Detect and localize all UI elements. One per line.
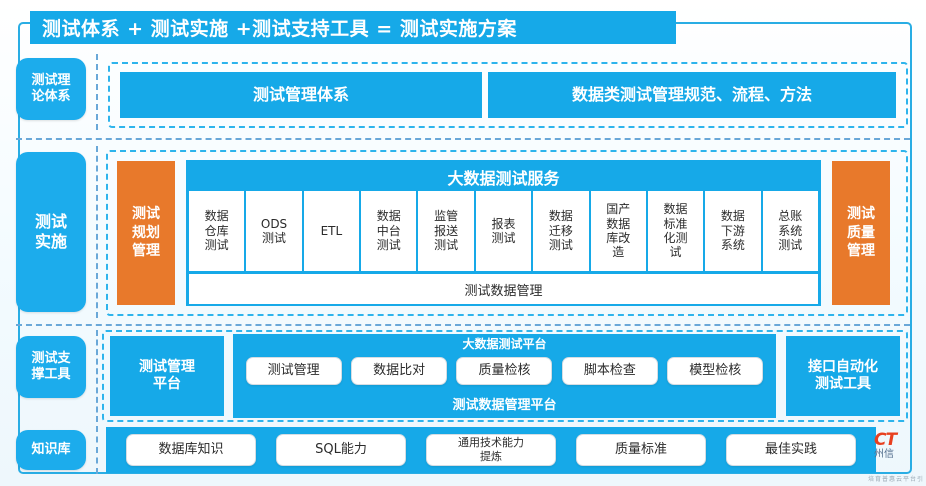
service-cell[interactable]: 数据 迁移 测试 [533,191,588,271]
sidebar-item-theory-label: 测试理 论体系 [31,73,70,106]
platform-tool[interactable]: 测试管理 [246,357,342,385]
service-cell[interactable]: 数据 标准 化测 试 [648,191,703,271]
test-planning-management-block[interactable]: 测试 规划 管理 [117,161,175,305]
theory-box-2[interactable]: 数据类测试管理规范、流程、方法 [488,72,896,118]
service-cell-label: 数据 标准 化测 试 [664,202,688,260]
sidebar-item-support-tools[interactable]: 测试支 撑工具 [16,336,86,398]
big-data-test-service-title-text: 大数据测试服务 [447,165,559,189]
platform-tool[interactable]: 数据比对 [351,357,447,385]
platform-tool[interactable]: 脚本检查 [562,357,658,385]
theory-box-1-label: 测试管理体系 [253,85,349,105]
sidebar-item-theory[interactable]: 测试理 论体系 [16,58,86,120]
service-cell[interactable]: 数据 中台 测试 [361,191,416,271]
section-divider-1 [16,138,910,140]
knowledge-item[interactable]: 质量标准 [576,434,706,466]
watermark-company-text: 州信 [874,449,926,460]
knowledge-item-label: SQL能力 [315,442,367,458]
knowledge-item[interactable]: 最佳实践 [726,434,856,466]
service-grid: 数据 仓库 测试 ODS 测试 ETL 数据 中台 测试 监管 报送 测试 报表… [189,191,818,271]
knowledge-item[interactable]: 通用技术能力 提炼 [426,434,556,466]
knowledge-base-panel: 数据库知识 SQL能力 通用技术能力 提炼 质量标准 最佳实践 [106,427,876,473]
knowledge-item-label: 最佳实践 [765,442,817,458]
interface-automation-tool-label: 接口自动化 测试工具 [808,359,878,394]
sidebar-item-knowledge-base[interactable]: 知识库 [16,430,86,470]
service-cell-label: 数据 仓库 测试 [205,209,229,252]
sidebar-divider-knowledge [96,426,98,474]
test-management-platform-label: 测试管理 平台 [139,359,195,394]
service-cell-label: 数据 迁移 测试 [549,209,573,252]
sidebar-item-support-tools-label: 测试支 撑工具 [31,351,70,384]
knowledge-item-label: 质量标准 [615,442,667,458]
service-cell[interactable]: 报表 测试 [476,191,531,271]
service-cell-label: 数据 下游 系统 [721,209,745,252]
platform-tool-label: 质量检核 [478,363,530,379]
knowledge-item[interactable]: 数据库知识 [126,434,256,466]
platform-tool-label: 脚本检查 [584,363,636,379]
service-cell[interactable]: 监管 报送 测试 [418,191,473,271]
service-cell[interactable]: ETL [304,191,359,271]
big-data-test-platform-title: 大数据测试平台 [233,334,776,352]
knowledge-item-label: 数据库知识 [158,442,223,458]
page-title-text: 测试体系 + 测试实施 +测试支持工具 = 测试实施方案 [42,14,517,41]
platform-tool-label: 模型检核 [689,363,741,379]
theory-box-2-label: 数据类测试管理规范、流程、方法 [572,85,812,105]
platform-tool-label: 数据比对 [373,363,425,379]
test-management-platform-block[interactable]: 测试管理 平台 [110,336,224,416]
watermark-logo-text: CT [874,432,926,449]
sidebar-item-knowledge-base-label: 知识库 [31,442,70,458]
test-quality-management-block[interactable]: 测试 质量 管理 [832,161,890,305]
service-cell-label: ODS 测试 [261,217,287,246]
platform-tools-row: 测试管理 数据比对 质量检核 脚本检查 模型检核 [233,352,776,390]
service-cell-label: 监管 报送 测试 [434,209,458,252]
service-cell[interactable]: 国产 数据 库改 造 [591,191,646,271]
section-divider-2 [16,324,910,326]
service-cell-label: ETL [321,224,343,238]
theory-box-1[interactable]: 测试管理体系 [120,72,482,118]
test-data-management-bar[interactable]: 测试数据管理 [189,274,818,304]
test-data-management-platform-bar[interactable]: 测试数据管理平台 [233,390,776,416]
service-cell-label: 国产 数据 库改 造 [606,202,630,260]
service-cell-label: 数据 中台 测试 [377,209,401,252]
service-cell[interactable]: ODS 测试 [246,191,301,271]
service-cell[interactable]: 总账 系统 测试 [763,191,818,271]
test-quality-management-label: 测试 质量 管理 [847,205,875,262]
test-data-management-label: 测试数据管理 [464,280,542,299]
platform-tool[interactable]: 模型检核 [667,357,763,385]
corporate-logo-watermark: CT 州信 [874,432,926,472]
service-cell[interactable]: 数据 下游 系统 [705,191,760,271]
platform-tool-label: 测试管理 [268,363,320,379]
big-data-test-service-panel: 大数据测试服务 数据 仓库 测试 ODS 测试 ETL 数据 中台 测试 监管 … [186,160,821,306]
service-cell-label: 报表 测试 [491,217,515,246]
watermark-tagline: 培育普惠云平台引 [868,474,924,483]
sidebar-divider-theory [96,54,98,130]
service-cell[interactable]: 数据 仓库 测试 [189,191,244,271]
sidebar-divider-implementation [96,146,98,318]
platform-tool[interactable]: 质量检核 [456,357,552,385]
sidebar-item-implementation[interactable]: 测试 实施 [16,152,86,312]
interface-automation-tool-block[interactable]: 接口自动化 测试工具 [786,336,900,416]
page-title: 测试体系 + 测试实施 +测试支持工具 = 测试实施方案 [30,11,676,44]
big-data-test-platform-panel: 大数据测试平台 测试管理 数据比对 质量检核 脚本检查 模型检核 测试数据管理平… [233,334,776,418]
knowledge-item[interactable]: SQL能力 [276,434,406,466]
test-planning-management-label: 测试 规划 管理 [132,205,160,262]
big-data-test-service-title: 大数据测试服务 [189,163,818,191]
big-data-test-platform-title-text: 大数据测试平台 [462,335,546,352]
sidebar-divider-support [96,330,98,422]
diagram-canvas: 测试体系 + 测试实施 +测试支持工具 = 测试实施方案 测试理 论体系 测试管… [0,0,926,486]
test-data-management-platform-label: 测试数据管理平台 [452,394,556,413]
knowledge-item-label: 通用技术能力 提炼 [458,436,524,464]
service-cell-label: 总账 系统 测试 [778,209,802,252]
sidebar-item-implementation-label: 测试 实施 [35,212,67,252]
